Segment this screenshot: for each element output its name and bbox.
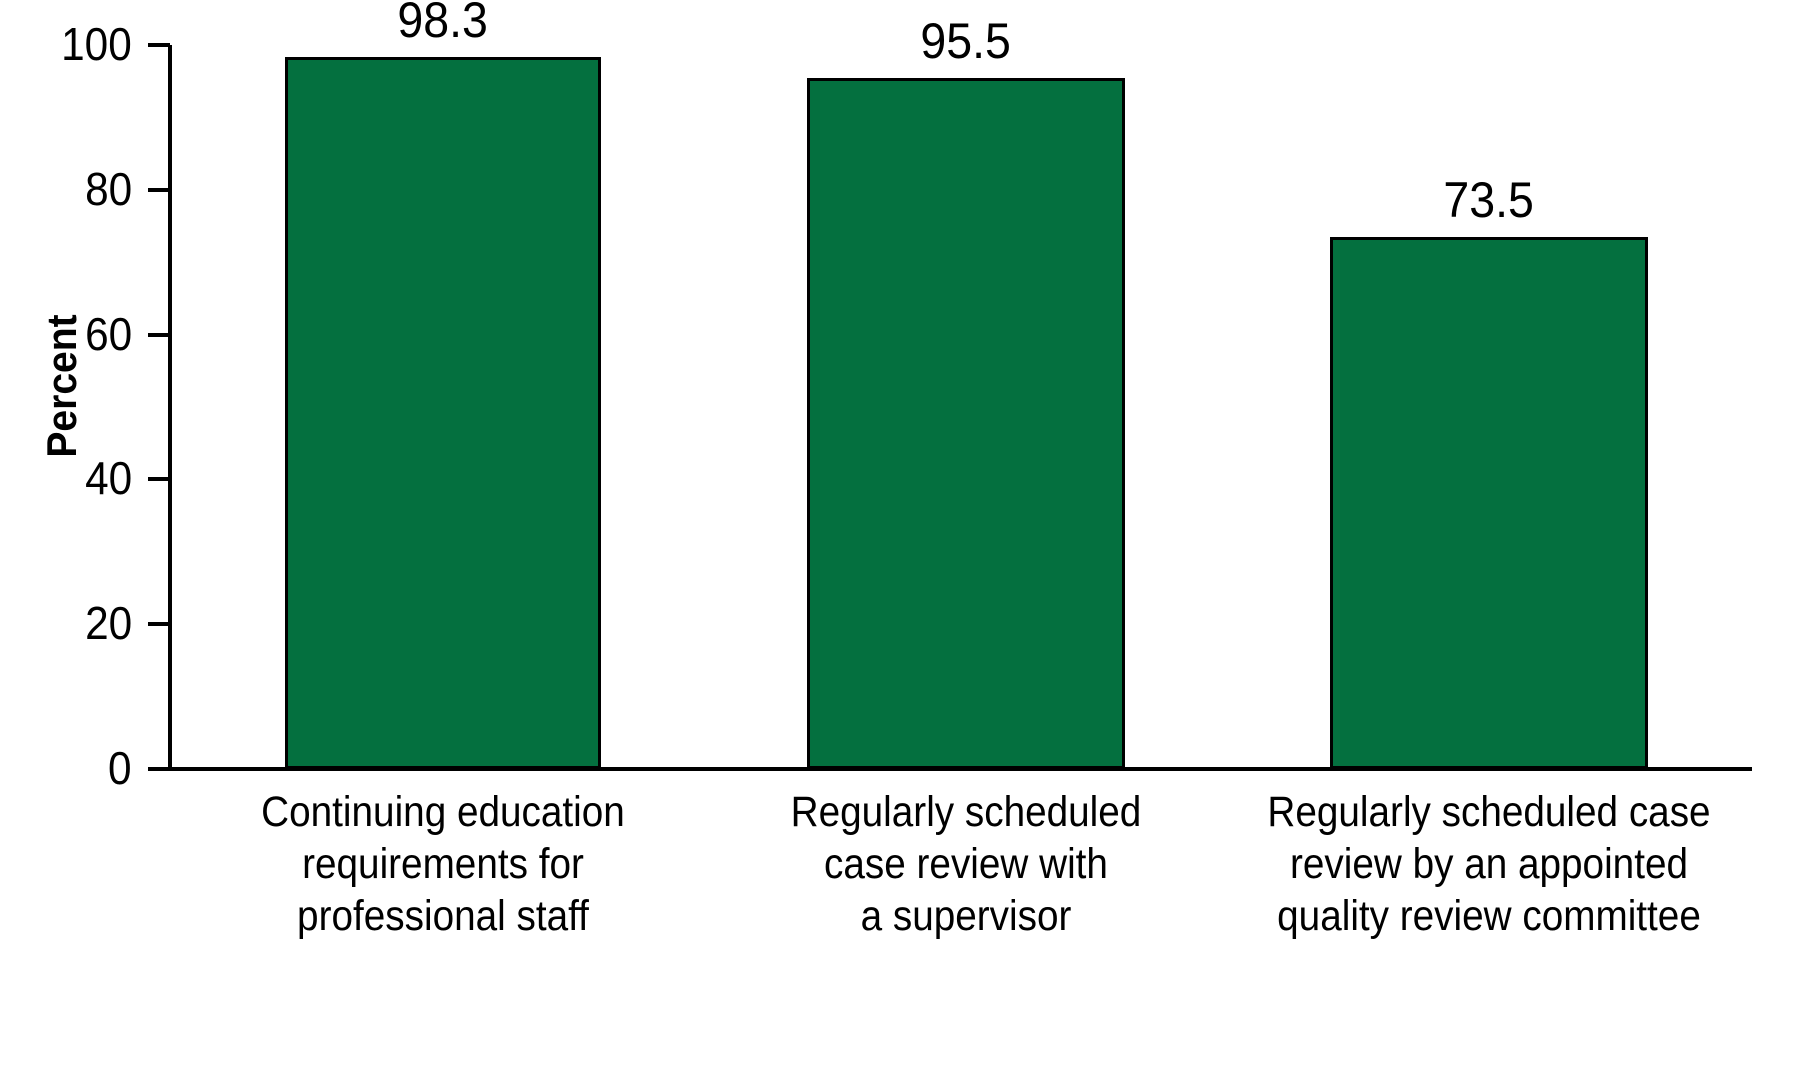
y-tick-label: 40 xyxy=(85,455,132,501)
y-tick-label: 80 xyxy=(85,166,132,212)
category-label-line: professional staff xyxy=(245,890,641,942)
y-axis-title: Percent xyxy=(41,293,83,479)
y-tick-mark xyxy=(148,477,170,481)
category-label-line: quality review committee xyxy=(1264,890,1714,942)
category-label-line: Regularly scheduled case xyxy=(1264,786,1714,838)
bar-value-label: 73.5 xyxy=(1330,175,1648,225)
y-tick-label: 60 xyxy=(85,311,132,357)
x-axis-category-label: Continuing educationrequirements forprof… xyxy=(223,786,663,942)
bar-value-label: 95.5 xyxy=(807,16,1125,66)
category-label-line: requirements for xyxy=(245,838,641,890)
y-tick-mark xyxy=(148,188,170,192)
y-tick-label: 0 xyxy=(108,745,132,791)
y-axis-line xyxy=(168,45,172,771)
category-label-line: case review with xyxy=(768,838,1164,890)
bar[interactable] xyxy=(1330,237,1648,769)
x-axis-category-label: Regularly scheduledcase review witha sup… xyxy=(746,786,1186,942)
x-axis-category-label: Regularly scheduled casereview by an app… xyxy=(1239,786,1739,942)
y-tick-mark xyxy=(148,767,170,771)
y-tick-mark xyxy=(148,333,170,337)
category-label-line: review by an appointed xyxy=(1264,838,1714,890)
chart-canvas: Percent 020406080100 98.395.573.5 Contin… xyxy=(0,0,1801,1089)
y-tick-label: 20 xyxy=(85,600,132,646)
category-label-line: a supervisor xyxy=(768,890,1164,942)
bar-value-label: 98.3 xyxy=(285,0,601,45)
plot-area: Percent 020406080100 98.395.573.5 Contin… xyxy=(0,0,1801,1089)
category-label-line: Regularly scheduled xyxy=(768,786,1164,838)
bar[interactable] xyxy=(285,57,601,769)
y-tick-mark xyxy=(148,622,170,626)
y-tick-mark xyxy=(148,43,170,47)
y-tick-label: 100 xyxy=(61,21,132,67)
category-label-line: Continuing education xyxy=(245,786,641,838)
bar[interactable] xyxy=(807,78,1125,769)
